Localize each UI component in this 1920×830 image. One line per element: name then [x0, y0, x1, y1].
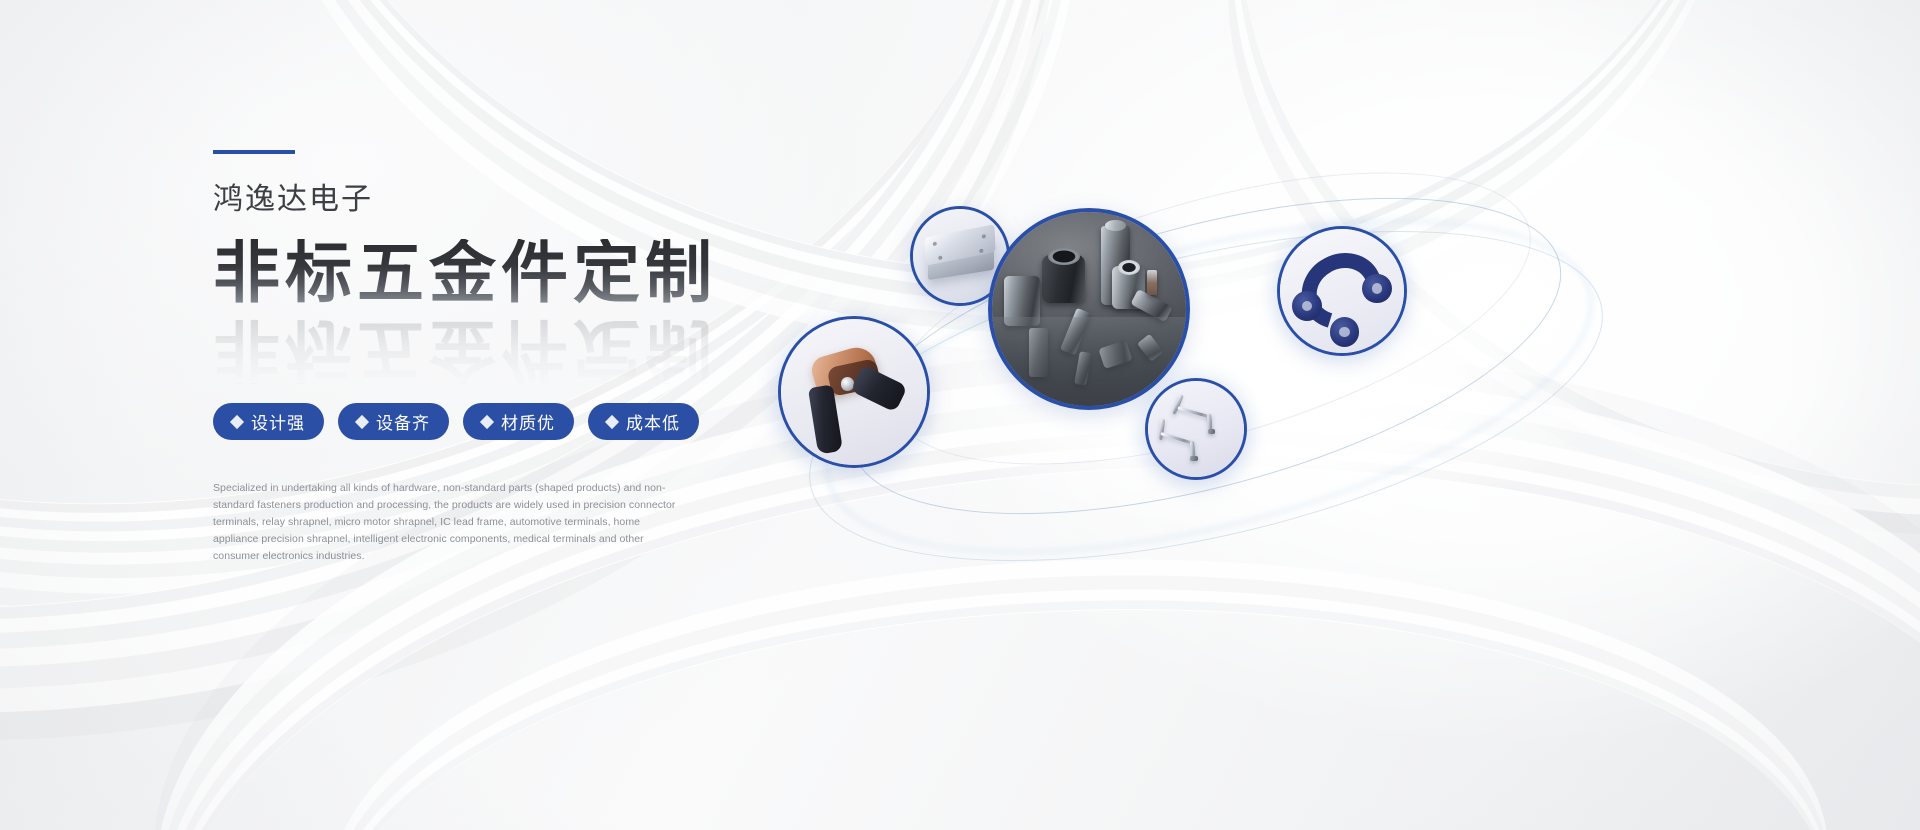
part-bolt	[1060, 308, 1091, 355]
feature-pill-label: 材质优	[501, 409, 555, 434]
feature-pill-cost[interactable]: 成本低	[588, 403, 699, 440]
copper-battery-clamp-photo	[781, 319, 927, 465]
part-dark-hub	[1042, 255, 1085, 304]
product-node-battery-clamp[interactable]	[778, 316, 930, 468]
diamond-icon	[355, 414, 369, 428]
part-lever-arm-small	[1138, 334, 1165, 362]
clamp-handle-left-shape	[808, 385, 843, 455]
terminal-pin-tip	[1208, 429, 1216, 434]
machined-metal-parts-photo	[992, 212, 1186, 406]
feature-pill-label: 设备齐	[376, 409, 430, 434]
part-plug	[1029, 328, 1048, 377]
part-copper-stud	[1147, 270, 1157, 295]
headline-block: 非标五金件定制 非标五金件定制	[213, 239, 833, 365]
headline-reflection: 非标五金件定制	[213, 313, 717, 383]
product-visual-cluster	[760, 150, 1760, 600]
feature-pill-label: 成本低	[626, 409, 680, 434]
clamp-rivet-shape	[841, 377, 854, 390]
feature-pill-equipment[interactable]: 设备齐	[338, 403, 449, 440]
feature-pill-design[interactable]: 设计强	[213, 403, 324, 440]
terminal-pin-segment	[1177, 406, 1211, 419]
company-name: 鸿逸达电子	[213, 185, 833, 215]
description-paragraph: Specialized in undertaking all kinds of …	[213, 480, 678, 565]
terminal-pin-tip	[1190, 456, 1198, 461]
part-small-pin	[1075, 351, 1092, 385]
hero-banner: 鸿逸达电子 非标五金件定制 非标五金件定制 设计强 设备齐 材质优 成本低	[0, 0, 1920, 830]
terminal-pin-segment	[1172, 394, 1183, 415]
clip-lug-shape	[1292, 291, 1322, 321]
product-node-terminal-pins[interactable]	[1145, 378, 1247, 480]
diamond-icon	[480, 414, 494, 428]
diamond-icon	[230, 414, 244, 428]
blue-retaining-clip-photo	[1280, 229, 1404, 353]
diamond-icon	[605, 414, 619, 428]
bent-terminal-pins-photo	[1148, 381, 1244, 477]
product-node-retaining-clip[interactable]	[1277, 226, 1407, 356]
part-connector-body	[1004, 276, 1041, 326]
feature-pill-material[interactable]: 材质优	[463, 403, 574, 440]
clip-lug-shape	[1330, 317, 1360, 347]
feature-pill-label: 设计强	[251, 409, 305, 434]
part-elbow-fitting	[1098, 340, 1132, 369]
accent-rule	[213, 150, 295, 154]
terminal-pin-segment	[1158, 419, 1164, 440]
product-node-machined-parts[interactable]	[988, 208, 1190, 410]
clamp-handle-right-shape	[850, 365, 907, 413]
page-title: 非标五金件定制	[213, 239, 833, 309]
hero-text-column: 鸿逸达电子 非标五金件定制 非标五金件定制 设计强 设备齐 材质优 成本低	[213, 150, 833, 576]
feature-pill-row: 设计强 设备齐 材质优 成本低	[213, 403, 833, 440]
clip-lug-shape	[1362, 274, 1392, 304]
